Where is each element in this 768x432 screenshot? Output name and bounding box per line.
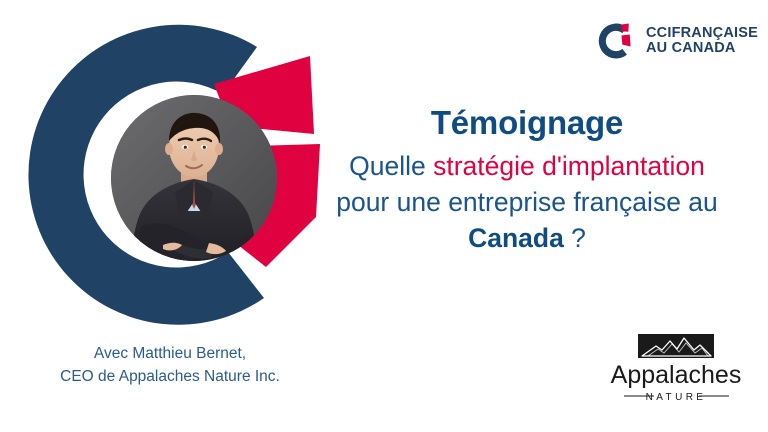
cci-francaise: FRANÇAISE [672, 25, 758, 41]
speaker-role: CEO de Appalaches Nature Inc. [36, 365, 304, 388]
headline-line-2: pour une entreprise française au [296, 184, 758, 220]
cci-wordmark-line2: AU CANADA [646, 41, 758, 56]
cci-c-mark-icon [592, 18, 638, 64]
slide-canvas: CCIFRANÇAISE AU CANADA [0, 0, 768, 432]
headline-question-mark: ? [564, 223, 586, 253]
cci-acronym: CCI [646, 25, 672, 41]
mountain-icon [638, 334, 714, 358]
headline-block: Témoignage Quelle stratégie d'implantati… [296, 104, 758, 256]
speaker-portrait [111, 95, 277, 261]
appalaches-tagline: NATURE [646, 392, 707, 403]
page-title: Témoignage [296, 104, 758, 143]
big-c-emblem [14, 12, 344, 342]
speaker-caption: Avec Matthieu Bernet, CEO de Appalaches … [36, 342, 304, 389]
cci-header-logo: CCIFRANÇAISE AU CANADA [592, 18, 758, 64]
headline-accent-phrase: stratégie d'implantation [433, 151, 705, 181]
headline-line1-prefix: Quelle [349, 151, 433, 181]
cci-wordmark-line1: CCIFRANÇAISE [646, 26, 758, 41]
cci-wordmark: CCIFRANÇAISE AU CANADA [646, 26, 758, 56]
headline-line-3: Canada ? [296, 220, 758, 256]
headline-country: Canada [468, 223, 564, 253]
appalaches-nature-logo: Appalaches NATURE [596, 332, 756, 406]
headline-line-1: Quelle stratégie d'implantation [296, 148, 758, 184]
speaker-name: Avec Matthieu Bernet, [36, 342, 304, 365]
headline-subtitle: Quelle stratégie d'implantation pour une… [296, 148, 758, 256]
appalaches-wordmark: Appalaches [611, 361, 742, 389]
